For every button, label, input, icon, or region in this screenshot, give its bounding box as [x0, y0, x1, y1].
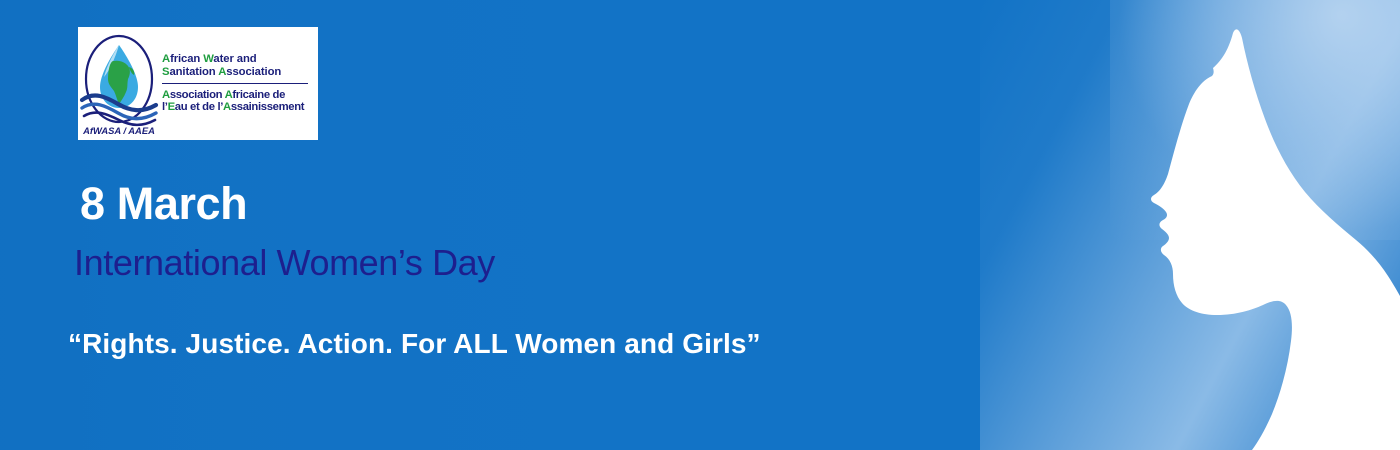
page-title: International Women’s Day — [74, 245, 495, 281]
date-title: 8 March — [80, 181, 247, 226]
woman-profile-silhouette — [1100, 0, 1400, 450]
logo-english-line-1: African Water and — [162, 53, 314, 65]
logo-english-line-2: Sanitation Association — [162, 66, 314, 78]
afwasa-logo: AfWASA / AAEA African Water and Sanitati… — [78, 27, 318, 140]
logo-divider — [162, 83, 308, 85]
afwasa-water-drop-africa-logo-icon: AfWASA / AAEA — [78, 27, 160, 140]
afwasa-logo-text: African Water and Sanitation Association… — [160, 53, 318, 113]
logo-french-line-2: l’Eau et de l’Assainissement — [162, 101, 314, 113]
slogan-text: “Rights. Justice. Action. For ALL Women … — [68, 330, 761, 358]
international-womens-day-banner: AfWASA / AAEA African Water and Sanitati… — [0, 0, 1400, 450]
logo-acronym-text: AfWASA / AAEA — [82, 125, 155, 136]
logo-french-line-1: Association Africaine de — [162, 89, 314, 101]
